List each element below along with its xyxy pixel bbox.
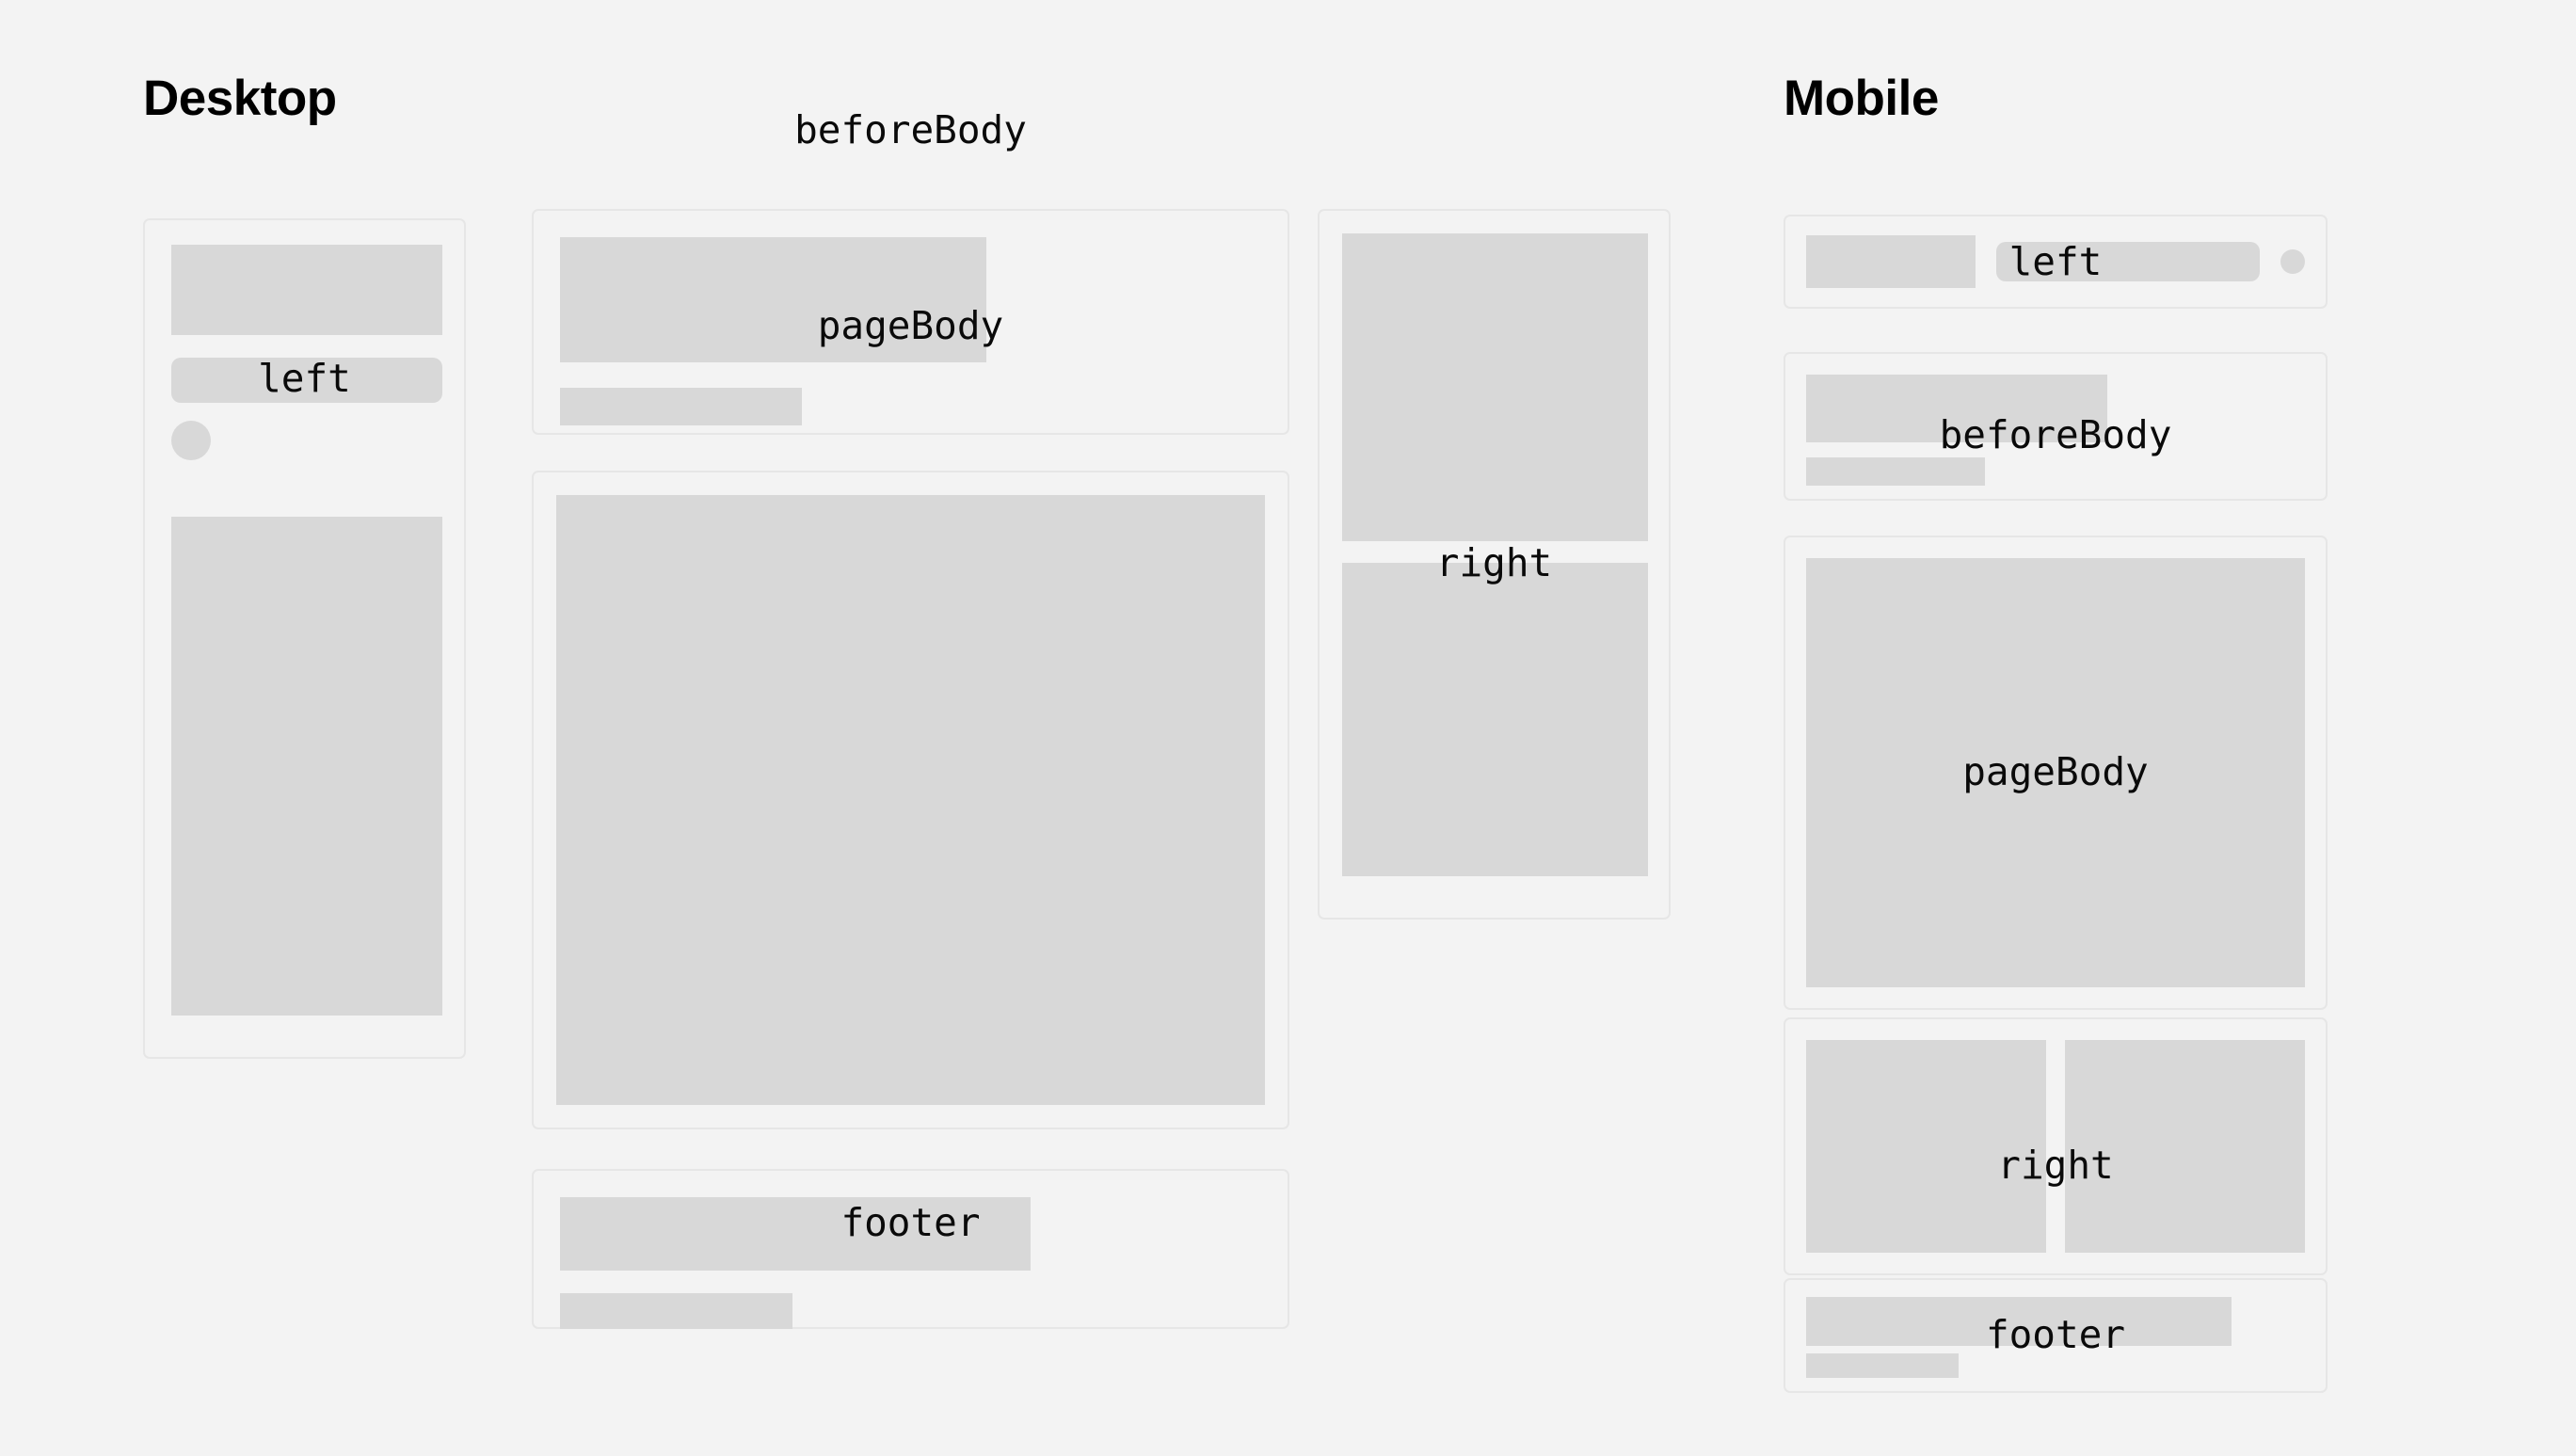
- desktop-section-title: Desktop: [143, 73, 337, 123]
- mobile-left-row: [1806, 237, 2305, 286]
- mobile-footer-panel[interactable]: [1784, 1278, 2328, 1393]
- desktop-right-panel[interactable]: [1318, 209, 1671, 920]
- mobile-page-body-panel[interactable]: [1784, 536, 2328, 1010]
- mobile-before-body-caption-block: [1806, 457, 1985, 486]
- mobile-section-title: Mobile: [1784, 73, 1939, 123]
- desktop-page-body-content-block: [556, 495, 1265, 1105]
- mobile-left-search-bar: [1996, 242, 2260, 281]
- desktop-before-body-label: beforeBody: [532, 111, 1289, 150]
- mobile-right-panel[interactable]: [1784, 1017, 2328, 1275]
- mobile-right-row: [1806, 1040, 2305, 1253]
- desktop-page-body-panel[interactable]: [532, 471, 1289, 1129]
- desktop-left-avatar-dot: [171, 421, 211, 460]
- desktop-footer-caption-block: [560, 1293, 792, 1329]
- desktop-left-panel[interactable]: [143, 218, 466, 1059]
- mobile-left-panel[interactable]: [1784, 215, 2328, 309]
- desktop-footer-panel[interactable]: [532, 1169, 1289, 1329]
- desktop-before-body-caption-block: [560, 388, 802, 425]
- mobile-before-body-panel[interactable]: [1784, 352, 2328, 501]
- desktop-left-header-block: [171, 245, 442, 335]
- mobile-footer-block: [1806, 1297, 2232, 1346]
- desktop-left-nav-block: [171, 517, 442, 1016]
- mobile-footer-caption-block: [1806, 1353, 1959, 1378]
- desktop-right-widget-block-top: [1342, 233, 1648, 541]
- mobile-left-avatar-dot: [2280, 249, 2305, 274]
- desktop-left-search-bar: [171, 358, 442, 403]
- mobile-right-widget-block-right: [2065, 1040, 2305, 1253]
- mobile-right-widget-block-left: [1806, 1040, 2046, 1253]
- desktop-right-widget-block-bottom: [1342, 563, 1648, 876]
- desktop-footer-block: [560, 1197, 1031, 1271]
- desktop-before-body-banner-block: [560, 237, 986, 362]
- mobile-page-body-content-block: [1806, 558, 2305, 987]
- mobile-before-body-banner-block: [1806, 375, 2107, 442]
- mobile-left-header-block: [1806, 235, 1976, 288]
- desktop-before-body-panel[interactable]: [532, 209, 1289, 435]
